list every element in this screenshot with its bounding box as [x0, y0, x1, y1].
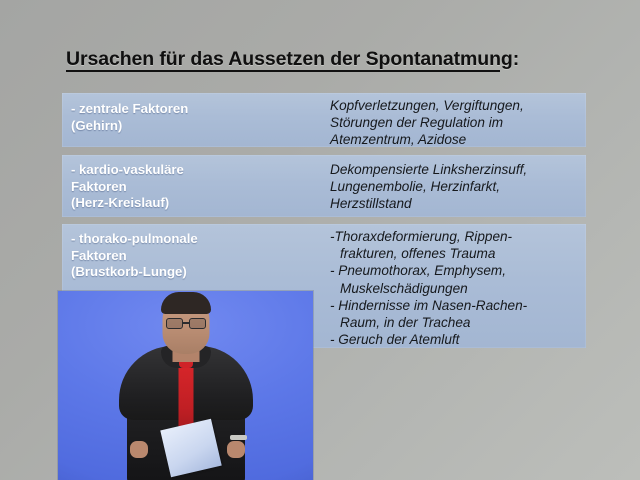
table-row: - kardio-vaskuläre Faktoren (Herz-Kreisl… [62, 155, 586, 217]
description-line: Störungen der Regulation im [330, 114, 580, 131]
row-description: Dekompensierte Linksherzinsuff, Lungenem… [330, 161, 580, 213]
description-list-item: - Pneumothorax, Emphysem, Muskelschädigu… [330, 262, 580, 296]
row-description: Kopfverletzungen, Vergiftungen, Störunge… [330, 97, 580, 149]
row-category-label: - zentrale Faktoren (Gehirn) [71, 101, 321, 134]
description-line: Dekompensierte Linksherzinsuff, [330, 161, 580, 178]
slide-canvas: Ursachen für das Aussetzen der Spontanat… [0, 0, 640, 480]
description-line: Kopfverletzungen, Vergiftungen, [330, 97, 580, 114]
presenter-video-inset[interactable] [58, 291, 313, 480]
row-category-label: - thorako-pulmonale Faktoren (Brustkorb-… [71, 231, 321, 281]
description-list-item: - Geruch der Atemluft [330, 331, 580, 348]
description-list-item: -Thoraxdeformierung, Rippen- frakturen, … [330, 228, 580, 262]
title-underline [66, 70, 500, 72]
page-title: Ursachen für das Aussetzen der Spontanat… [66, 48, 519, 71]
description-line: Lungenembolie, Herzinfarkt, [330, 178, 580, 195]
table-row: - zentrale Faktoren (Gehirn) Kopfverletz… [62, 93, 586, 147]
video-vignette [58, 291, 313, 480]
description-line: Herzstillstand [330, 195, 580, 212]
row-description: -Thoraxdeformierung, Rippen- frakturen, … [330, 228, 580, 348]
description-line: Atemzentrum, Azidose [330, 131, 580, 148]
row-category-label: - kardio-vaskuläre Faktoren (Herz-Kreisl… [71, 162, 321, 212]
description-list-item: - Hindernisse im Nasen-Rachen- Raum, in … [330, 297, 580, 331]
